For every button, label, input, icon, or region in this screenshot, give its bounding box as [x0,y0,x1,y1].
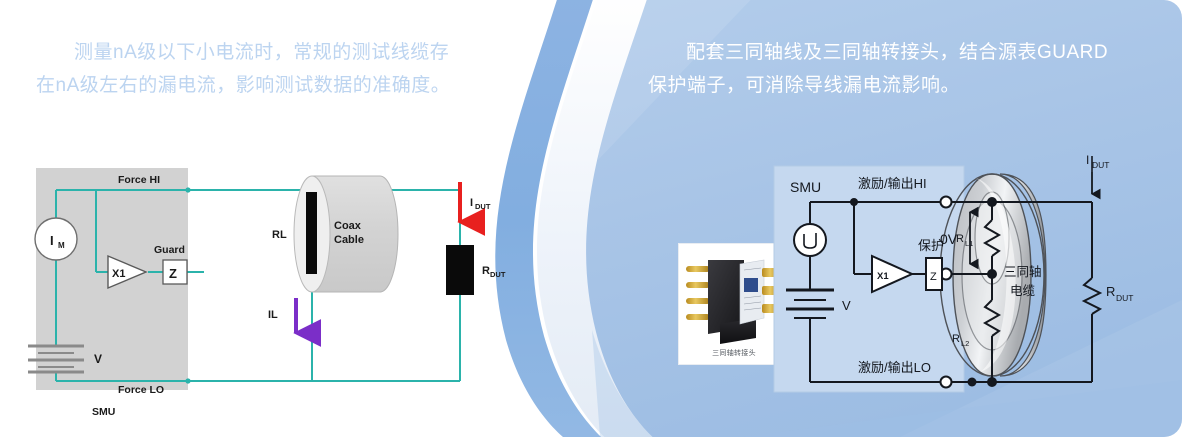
dut-resistor-symbol [1084,278,1100,314]
dut-current-label: I [1086,153,1089,167]
node-dot-inner-top [987,197,997,207]
node-dot-lo-bus [968,378,977,387]
ammeter-label: I [50,233,54,248]
force-hi-label: Force HI [118,174,160,186]
dut-current-label: I [470,197,473,209]
smu-caption: SMU [790,179,821,195]
dut-resistor-label: R [482,265,490,277]
leakage-resistor-symbol [306,192,317,274]
coax-cable-label-line2: Cable [334,234,364,246]
guard-impedance-label: Z [930,271,937,283]
leakage-resistor-1-label-sub: L1 [965,239,973,248]
dut-current-label-sub: DUT [1092,160,1109,170]
voltage-source-label: V [842,298,851,313]
slide-canvas: 测量nA级以下小电流时，常规的测试线缆存 在nA级左右的漏电流，影响测试数据的准… [0,0,1182,437]
triax-cable-label-line2: 电缆 [1010,284,1036,298]
guard-impedance-label: Z [169,266,177,281]
unity-buffer-label: X1 [112,268,125,280]
left-headline: 测量nA级以下小电流时，常规的测试线缆存 在nA级左右的漏电流，影响测试数据的准… [36,36,516,102]
leakage-resistor-label: RL [272,229,287,241]
coax-cable-label-line1: Coax [334,220,362,232]
unity-buffer-label: X1 [877,271,889,282]
ammeter-label-sub: M [58,241,65,250]
right-circuit-diagram: 三同轴 电缆 [640,150,1182,430]
node-dot-force-lo [185,378,190,383]
leakage-resistor-2-label: R [952,333,960,345]
right-headline: 配套三同轴线及三同轴转接头，结合源表GUARD 保护端子，可消除导线漏电流影响。 [648,36,1148,102]
node-dot-inner-bottom [987,377,997,387]
force-hi-label: 激励/输出HI [858,176,927,191]
guard-terminal-label: Guard [154,244,185,256]
dut-resistor-label-sub: DUT [1116,293,1133,303]
dut-resistor-symbol [446,245,474,295]
left-circuit-diagram: I M X1 Z Guard V Force HI Force LO SMU [0,150,560,430]
voltage-source-label: V [94,352,102,366]
current-source-symbol [794,224,826,256]
dut-resistor-label-sub: DUT [490,270,506,279]
smu-caption: SMU [92,406,115,418]
ammeter-symbol [35,218,77,260]
dut-current-label-sub: DUT [475,202,491,211]
triax-cable-label-line1: 三同轴 [1004,264,1042,279]
force-lo-label: Force LO [118,384,164,396]
force-lo-label: 激励/输出LO [858,360,931,375]
leakage-resistor-1-label: R [956,233,964,245]
dut-resistor-label: R [1106,284,1115,299]
node-dot-inner-mid [987,269,997,279]
leakage-current-label: IL [268,309,278,321]
terminal-hi [941,197,952,208]
node-dot-hi-tap [850,198,858,206]
node-dot-force-hi [185,187,190,192]
leakage-resistor-2-label-sub: L2 [961,339,969,348]
terminal-lo [941,377,952,388]
